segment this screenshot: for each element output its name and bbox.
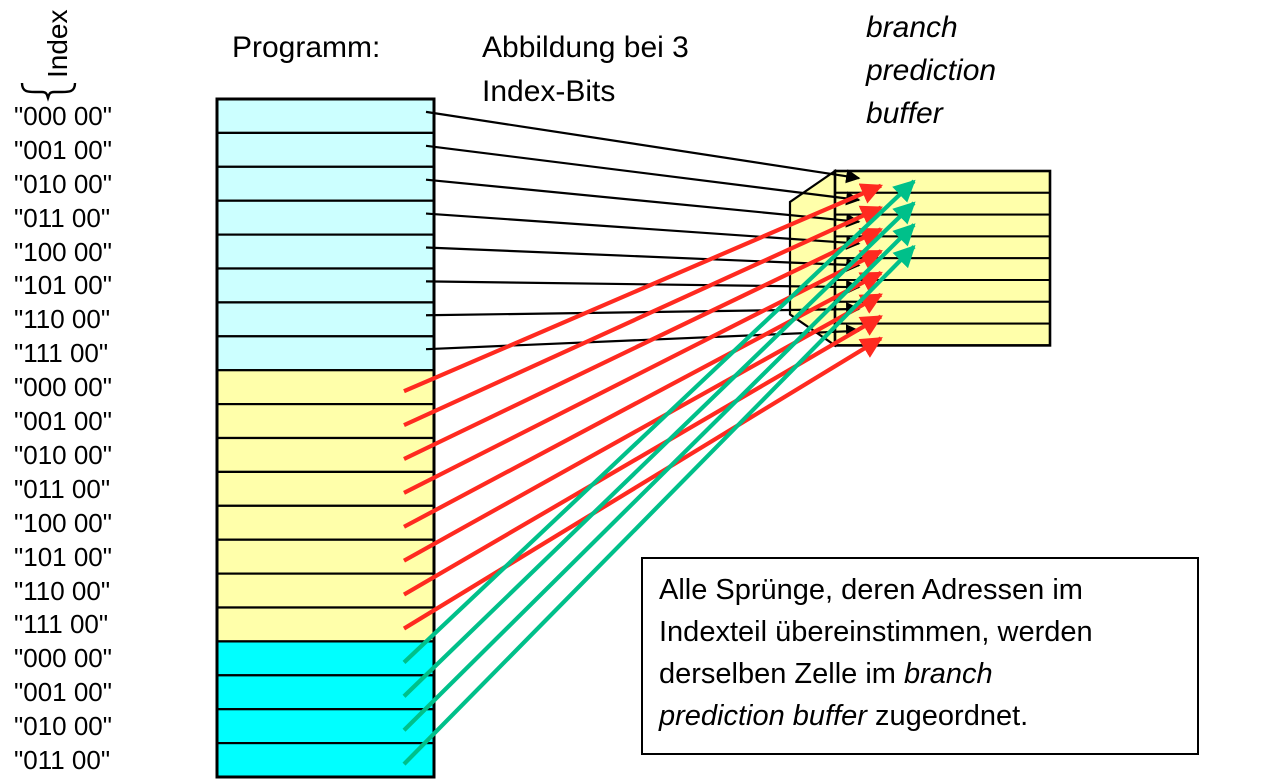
program-row xyxy=(217,641,434,675)
program-row xyxy=(217,99,434,133)
note-line-3-plain: derselben Zelle im xyxy=(659,658,904,690)
explanation-note: Alle Sprünge, deren Adressen im Indextei… xyxy=(641,557,1199,755)
program-row xyxy=(217,675,434,709)
note-line-4: prediction buffer zugeordnet. xyxy=(659,695,1183,737)
program-row xyxy=(217,302,434,336)
address-label: "000 00" xyxy=(14,645,112,671)
program-row xyxy=(217,472,434,506)
program-row xyxy=(217,709,434,743)
note-line-3: derselben Zelle im branch xyxy=(659,653,1183,695)
program-row xyxy=(217,336,434,370)
program-row xyxy=(217,269,434,303)
program-row xyxy=(217,235,434,269)
address-label: "010 00" xyxy=(14,171,112,197)
program-row xyxy=(217,201,434,235)
program-row xyxy=(217,404,434,438)
address-label: "111 00" xyxy=(14,340,108,366)
address-label: "000 00" xyxy=(14,374,112,400)
address-label: "100 00" xyxy=(14,239,112,265)
program-row xyxy=(217,608,434,642)
note-line-3-italic: branch xyxy=(904,658,993,690)
program-row xyxy=(217,167,434,201)
note-line-1: Alle Sprünge, deren Adressen im xyxy=(659,569,1183,611)
address-label: "110 00" xyxy=(14,578,110,604)
index-brace xyxy=(22,83,75,98)
diagram-canvas: Index Programm: Abbildung bei 3 Index-Bi… xyxy=(0,0,1261,784)
mapping-arrow-black xyxy=(426,146,859,200)
buffer-row xyxy=(835,193,1050,215)
address-label: "001 00" xyxy=(14,408,112,434)
address-label: "010 00" xyxy=(14,713,112,739)
address-label: "011 00" xyxy=(14,747,110,773)
buffer-row xyxy=(835,280,1050,302)
address-label: "001 00" xyxy=(14,679,112,705)
address-label: "111 00" xyxy=(14,611,108,637)
address-label: "011 00" xyxy=(14,205,110,231)
mapping-arrow-red xyxy=(404,273,881,527)
address-label: "011 00" xyxy=(14,476,110,502)
address-label: "110 00" xyxy=(14,306,110,332)
address-label: "101 00" xyxy=(14,272,112,298)
program-row xyxy=(217,743,434,777)
address-label: "000 00" xyxy=(14,103,112,129)
program-row xyxy=(217,133,434,167)
program-row xyxy=(217,506,434,540)
address-label: "101 00" xyxy=(14,544,112,570)
note-line-4-italic: prediction buffer xyxy=(659,700,867,732)
address-label: "100 00" xyxy=(14,510,112,536)
program-row xyxy=(217,370,434,404)
buffer-row xyxy=(835,302,1050,324)
note-line-2: Indexteil übereinstimmen, werden xyxy=(659,611,1183,653)
mapping-arrow-black xyxy=(426,112,859,178)
mapping-arrow-red xyxy=(404,229,881,459)
address-label: "010 00" xyxy=(14,442,112,468)
program-row xyxy=(217,540,434,574)
program-row xyxy=(217,574,434,608)
program-row xyxy=(217,438,434,472)
address-label: "001 00" xyxy=(14,137,112,163)
note-line-4-plain: zugeordnet. xyxy=(867,700,1028,732)
